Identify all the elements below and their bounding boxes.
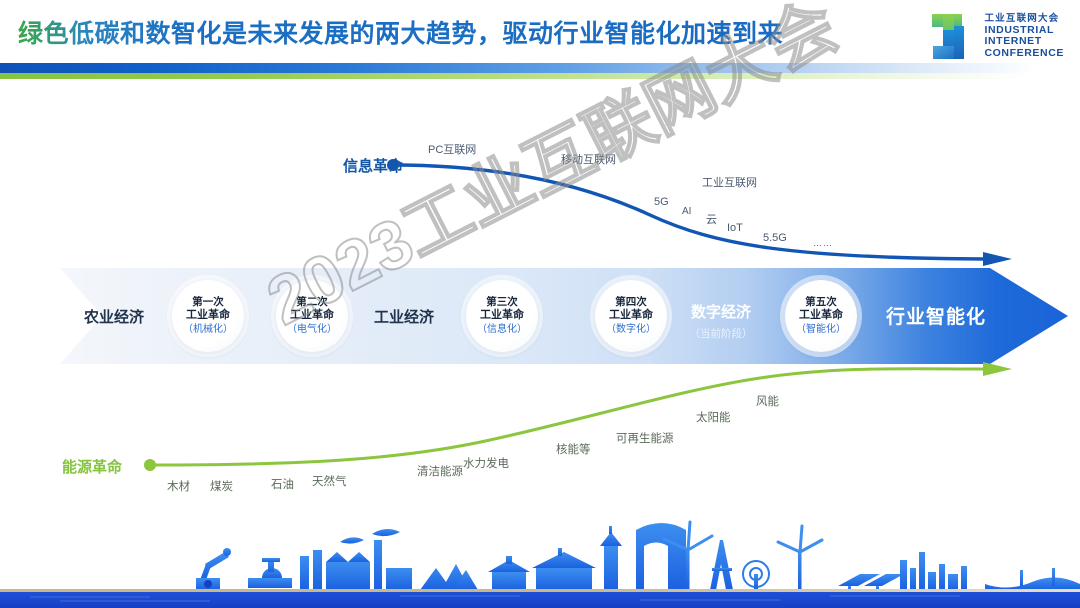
circle-5-sub: （智能化） <box>796 324 846 336</box>
circle-3-line1: 第三次 <box>486 296 518 308</box>
info-curve-arrowhead <box>983 252 1012 266</box>
circle-1-sub: （机械化） <box>183 324 233 336</box>
energy-curve-start-dot <box>144 459 156 471</box>
era-digital-economy-sub: （当前阶段） <box>677 326 765 341</box>
circle-2-line2: 工业革命 <box>290 309 334 322</box>
era-digital-economy: 数字经济 <box>677 301 765 322</box>
label-clean-energy: 清洁能源 <box>417 463 463 479</box>
label-hydropower: 水力发电 <box>463 455 509 471</box>
label-nuclear: 核能等 <box>556 441 591 457</box>
label-5g: 5G <box>654 196 669 208</box>
circle-4-line2: 工业革命 <box>609 309 653 322</box>
label-solar: 太阳能 <box>696 409 731 425</box>
circle-1-line1: 第一次 <box>192 296 224 308</box>
label-55g: 5.5G <box>763 232 787 244</box>
era-industry-intelligence: 行业智能化 <box>874 302 998 329</box>
label-cloud: 云 <box>706 211 717 227</box>
label-oil: 石油 <box>271 476 294 492</box>
label-ellipsis: …… <box>813 238 833 248</box>
era-industrial-economy: 工业经济 <box>363 306 445 327</box>
circle-3-line2: 工业革命 <box>480 309 524 322</box>
label-renewable: 可再生能源 <box>616 430 674 446</box>
label-industrial-internet: 工业互联网 <box>702 174 757 190</box>
label-pc-internet: PC互联网 <box>428 141 476 157</box>
label-iot: IoT <box>727 222 743 234</box>
info-revolution-label: 信息革命 <box>343 155 403 176</box>
label-ai: AI <box>682 206 691 217</box>
label-mobile-internet: 移动互联网 <box>561 151 616 167</box>
label-wind: 风能 <box>756 393 779 409</box>
era-agricultural-economy: 农业经济 <box>68 306 160 327</box>
circle-third-industrial-revolution[interactable]: 第三次 工业革命 （信息化） <box>466 280 538 352</box>
energy-revolution-label: 能源革命 <box>62 456 122 477</box>
circle-second-industrial-revolution[interactable]: 第二次 工业革命 （电气化） <box>276 280 348 352</box>
circle-5-line1: 第五次 <box>805 296 837 308</box>
circle-first-industrial-revolution[interactable]: 第一次 工业革命 （机械化） <box>172 280 244 352</box>
circle-2-sub: （电气化） <box>287 324 337 336</box>
energy-curve-arrowhead <box>983 362 1012 376</box>
circle-fourth-industrial-revolution[interactable]: 第四次 工业革命 （数字化） <box>595 280 667 352</box>
circle-4-sub: （数字化） <box>606 324 656 336</box>
circle-4-line1: 第四次 <box>615 296 647 308</box>
label-wood: 木材 <box>167 478 190 494</box>
circle-2-line1: 第二次 <box>296 296 328 308</box>
circle-3-sub: （信息化） <box>477 324 527 336</box>
circle-fifth-industrial-revolution[interactable]: 第五次 工业革命 （智能化） <box>785 280 857 352</box>
circle-5-line2: 工业革命 <box>799 309 843 322</box>
slide-canvas: 绿色低碳和数智化是未来发展的两大趋势，驱动行业智能化加速到来 <box>0 0 1080 608</box>
label-natural-gas: 天然气 <box>312 473 347 489</box>
label-coal: 煤炭 <box>210 478 233 494</box>
circle-1-line2: 工业革命 <box>186 309 230 322</box>
